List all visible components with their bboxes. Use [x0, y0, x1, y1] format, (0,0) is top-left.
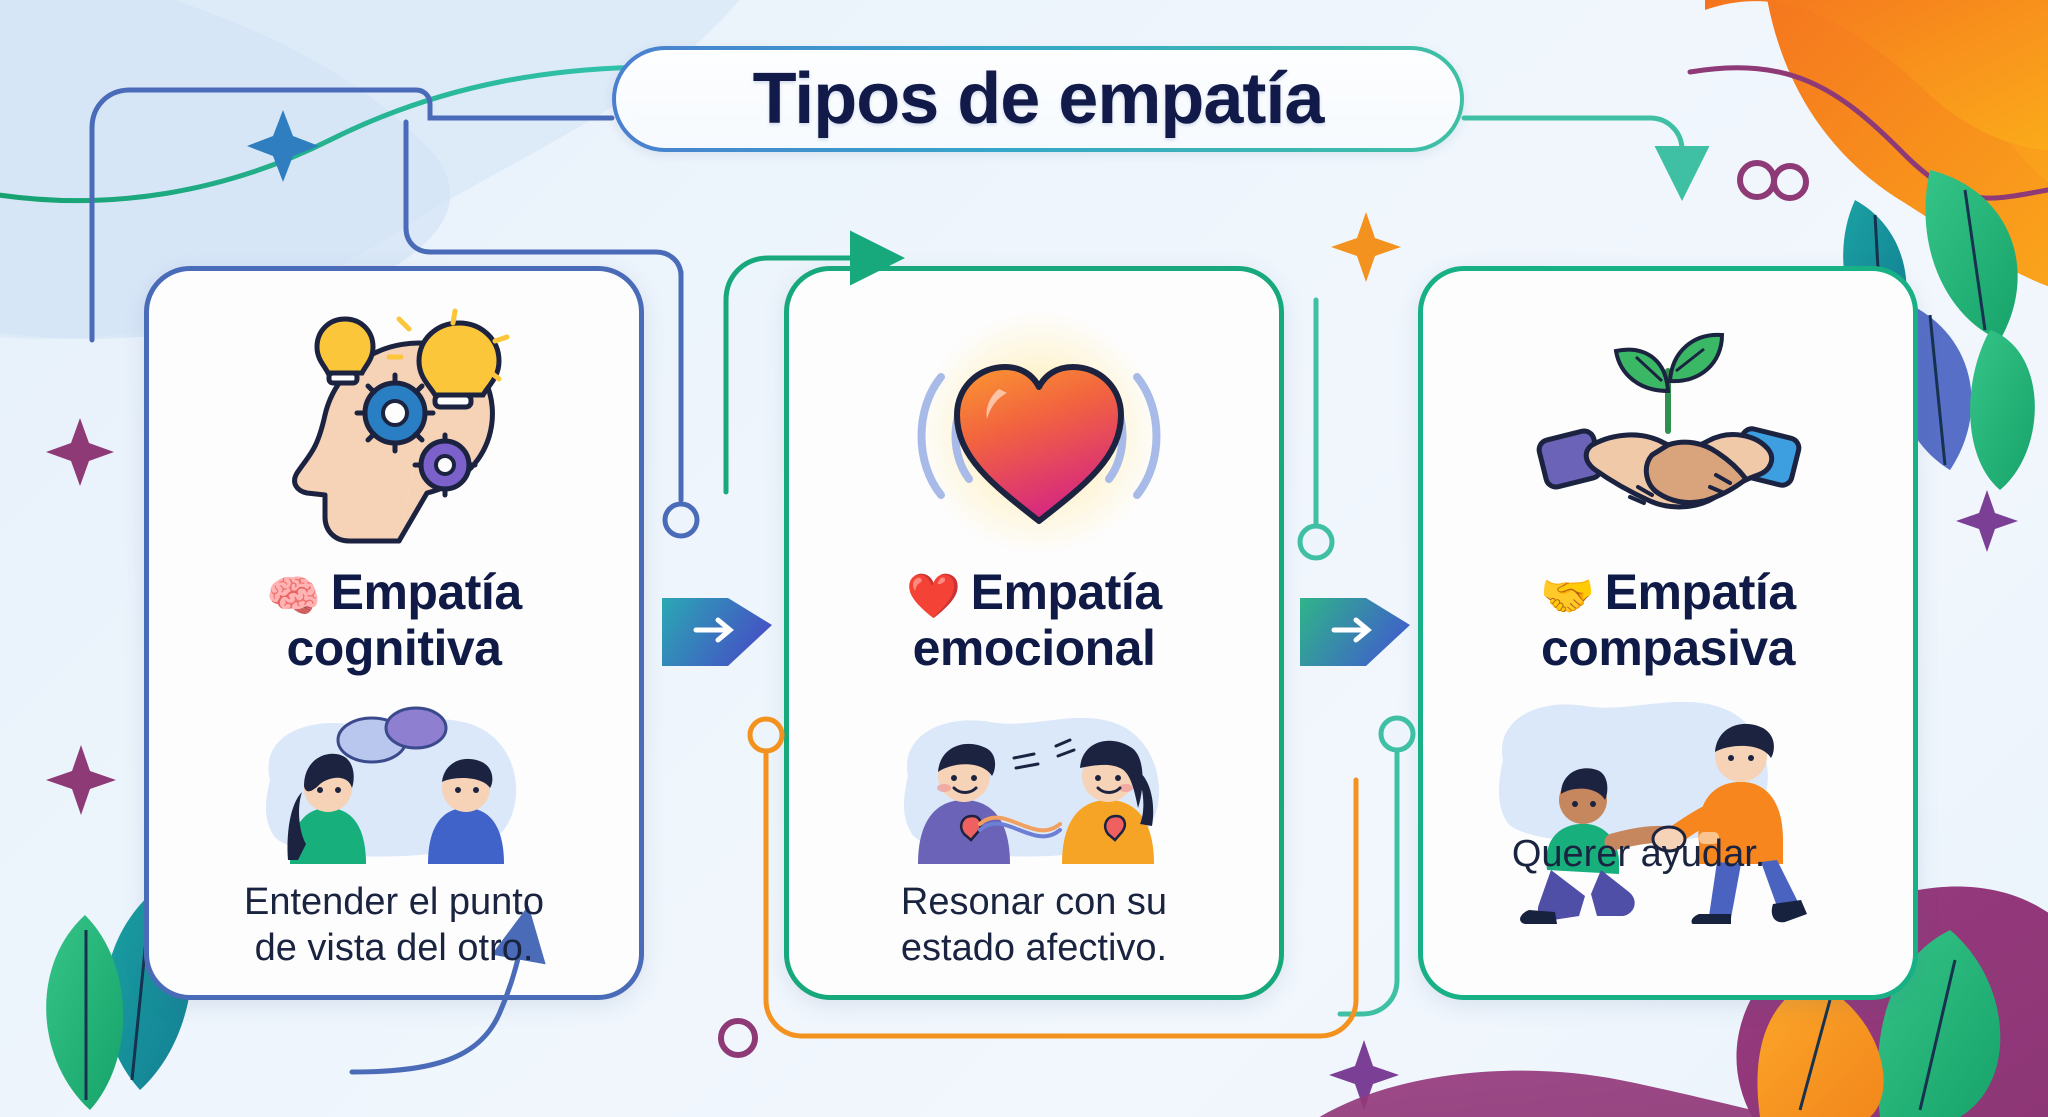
- wave-line-purple: [1690, 68, 2048, 198]
- leaf-group-left-bottom-2: [1426, 1040, 1540, 1117]
- card-2-title: ❤️Empatíaemocional: [809, 565, 1260, 675]
- blob-top-right: [1760, 0, 2048, 300]
- card-2-title-line-1: Empatía: [971, 564, 1162, 620]
- flow-card3-node: [1381, 718, 1413, 750]
- card-1-title: 🧠Empatíacognitiva: [169, 565, 620, 675]
- red-heart-emoji: ❤️: [906, 572, 960, 621]
- card-1-caption-line-1: Entender el punto: [244, 881, 544, 923]
- card-1-caption-line-2: de vista del otro.: [255, 927, 534, 969]
- leaf-green-right: [1925, 170, 2017, 340]
- card-2-caption-line-2: estado afectivo.: [901, 927, 1167, 969]
- card-1-title-line-2: cognitiva: [287, 620, 502, 676]
- blob-bottom-right-2: [1300, 1071, 1860, 1117]
- sparkle-purple-left-2: [46, 745, 116, 815]
- card-1-illustration-head-gears: [149, 291, 639, 569]
- connector-chevron-1[interactable]: [662, 580, 772, 670]
- page-title: Tipos de empatía: [612, 46, 1464, 152]
- card-3-title-line-1: Empatía: [1605, 564, 1796, 620]
- leaf-orange-right: [1757, 980, 1883, 1117]
- card-2-illustration-two-people: [789, 679, 1279, 869]
- card-2-illustration-heart: [789, 291, 1279, 569]
- sparkle-white: [1868, 1000, 1976, 1108]
- flow-card2-right-node: [1300, 526, 1332, 558]
- flow-card3-node-stem2: [1340, 750, 1397, 1014]
- brain-emoji: 🧠: [266, 572, 320, 621]
- page-title-text: Tipos de empatía: [753, 63, 1324, 135]
- card-2-caption: Resonar con su estado afectivo.: [818, 879, 1249, 972]
- infographic-canvas: Tipos de empatía: [0, 0, 2048, 1117]
- sparkle-orange: [1331, 212, 1401, 282]
- ring-purple-top-small: [1774, 166, 1806, 198]
- sparkle-purple-left: [46, 418, 114, 486]
- sparkle-purple-bottom: [1329, 1040, 1399, 1110]
- handshake-emoji: 🤝: [1540, 572, 1594, 621]
- card-empatia-emocional[interactable]: ❤️Empatíaemocional: [784, 266, 1284, 1000]
- card-3-caption-line-1: Querer ayudar.: [1512, 833, 1765, 875]
- flow-card1-node: [665, 504, 697, 536]
- wave-line-green-visible: [0, 67, 700, 201]
- leaf-green-right-2: [1970, 330, 2035, 490]
- card-3-illustration-handshake-sprout: [1423, 291, 1913, 569]
- ring-purple-top: [1740, 163, 1774, 197]
- sparkle-purple-right: [1956, 490, 2018, 552]
- flow-card2-node: [750, 719, 782, 751]
- flow-title-to-card3: [1464, 118, 1682, 176]
- sparkle-blue: [247, 110, 319, 182]
- card-3-caption: Querer ayudar.: [1423, 831, 1854, 877]
- card-2-caption-line-1: Resonar con su: [901, 881, 1167, 923]
- card-empatia-compasiva[interactable]: 🤝Empatíacompasiva: [1418, 266, 1918, 1000]
- card-1-caption: Entender el punto de vista del otro.: [178, 879, 609, 972]
- card-1-illustration-conversation: [149, 679, 639, 869]
- leaf-green-left: [46, 915, 123, 1110]
- blob-top-right-2: [1700, 0, 2048, 210]
- card-empatia-cognitiva[interactable]: 🧠Empatíacognitiva: [144, 266, 644, 1000]
- connector-chevron-2[interactable]: [1300, 580, 1410, 670]
- ring-purple-bottom: [721, 1021, 755, 1055]
- card-1-title-line-1: Empatía: [331, 564, 522, 620]
- card-2-title-line-2: emocional: [913, 620, 1156, 676]
- card-3-illustration-helping-hand: [1423, 669, 1913, 919]
- blob-top-right-3: [1705, 0, 2048, 150]
- card-3-title: 🤝Empatíacompasiva: [1443, 565, 1894, 675]
